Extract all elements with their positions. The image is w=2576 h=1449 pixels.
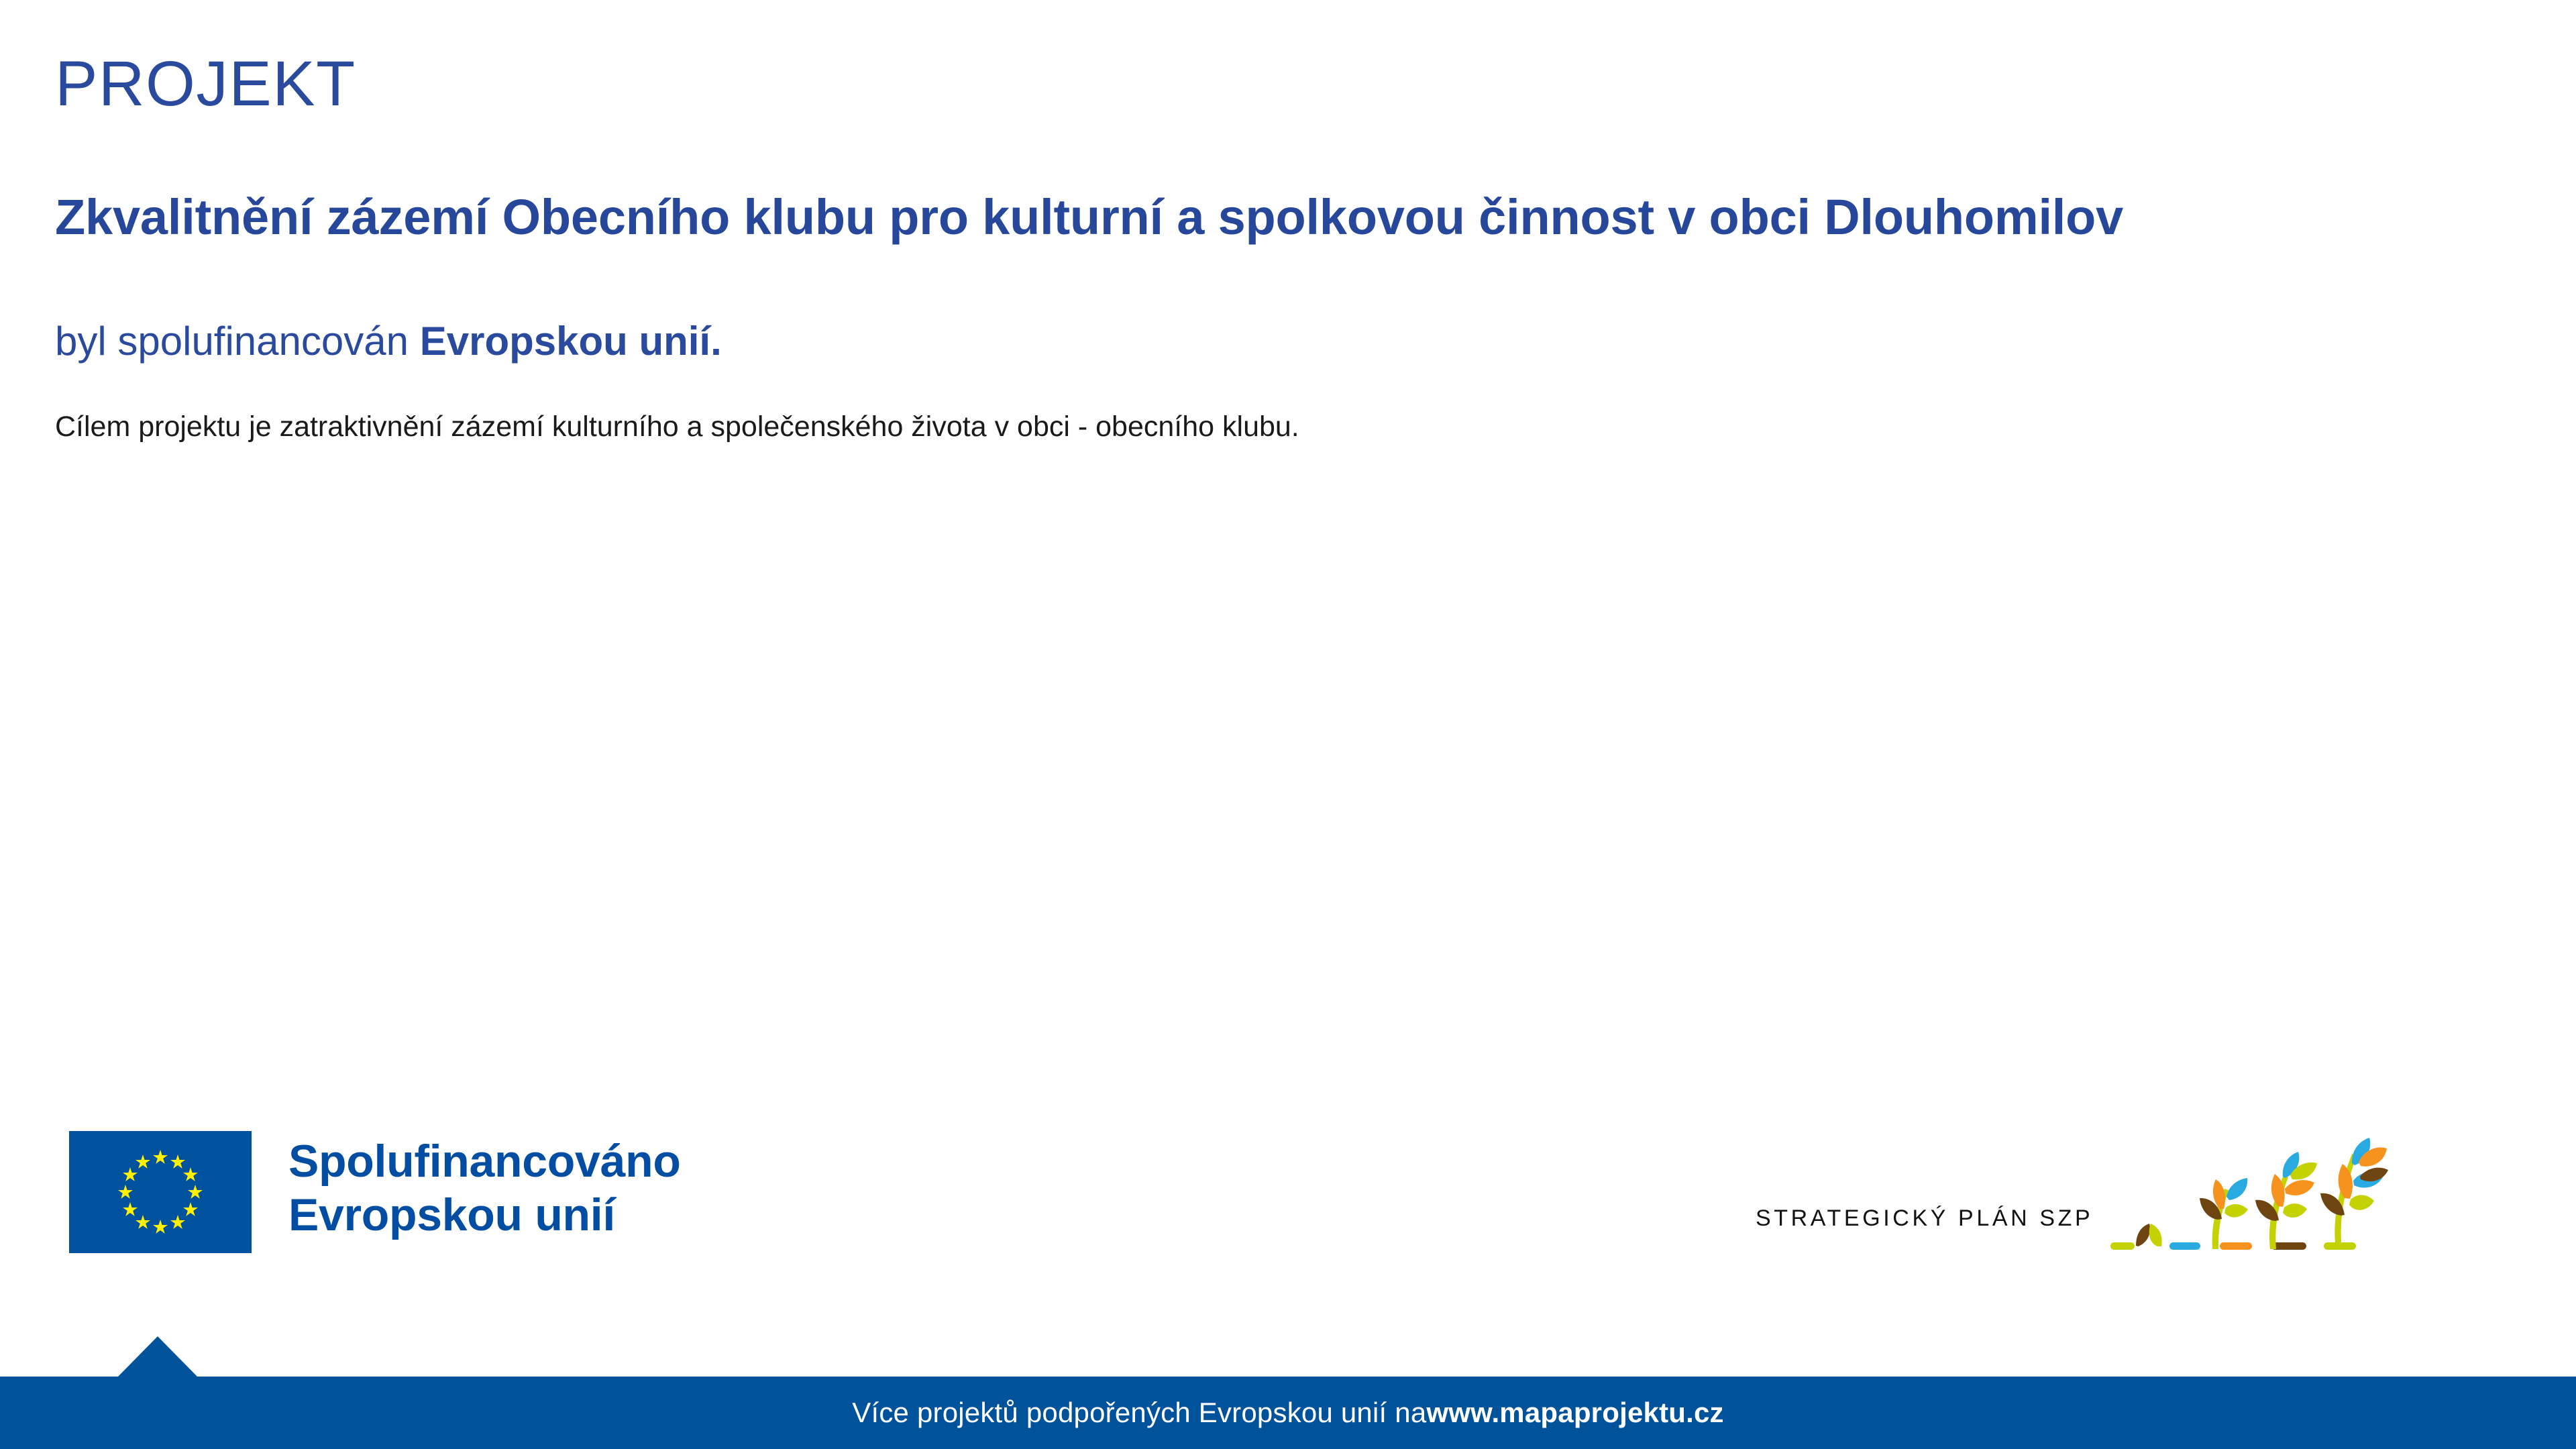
- footer-notch-triangle: [118, 1336, 197, 1377]
- footer-text: Více projektů podpořených Evropskou unií…: [0, 1377, 2576, 1449]
- szp-logo-label: STRATEGICKÝ PLÁN SZP: [1756, 1205, 2093, 1254]
- szp-logo: STRATEGICKÝ PLÁN SZP: [1756, 1134, 2412, 1254]
- funding-statement: byl spolufinancován Evropskou unií.: [55, 318, 722, 364]
- page-kicker: PROJEKT: [55, 52, 356, 116]
- funding-statement-emphasis: Evropskou unií.: [420, 319, 722, 364]
- funding-statement-prefix: byl spolufinancován: [55, 319, 420, 364]
- eu-logo-text: Spolufinancováno Evropskou unií: [288, 1131, 681, 1242]
- project-description: Cílem projektu je zatraktivnění zázemí k…: [55, 406, 1397, 449]
- eu-cofunding-logo: Spolufinancováno Evropskou unií: [69, 1131, 681, 1253]
- eu-flag-icon: [69, 1131, 252, 1253]
- footer-text-prefix: Více projektů podpořených Evropskou unií…: [852, 1397, 1426, 1429]
- eu-logo-text-line1: Spolufinancováno: [288, 1135, 681, 1189]
- growing-plants-icon: [2110, 1134, 2412, 1254]
- footer-url[interactable]: www.mapaprojektu.cz: [1426, 1397, 1723, 1429]
- footer-bar: Více projektů podpořených Evropskou unií…: [0, 1377, 2576, 1449]
- page-title: Zkvalitnění zázemí Obecního klubu pro ku…: [55, 190, 2123, 246]
- eu-logo-text-line2: Evropskou unií: [288, 1189, 681, 1242]
